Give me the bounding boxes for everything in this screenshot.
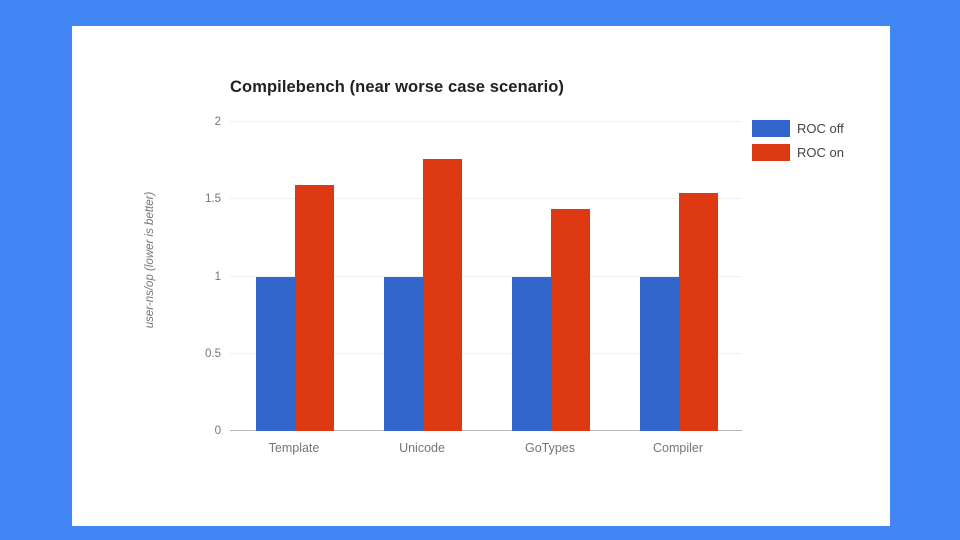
x-tick-label: Template <box>230 441 358 455</box>
y-tick-label: 2 <box>215 116 221 128</box>
legend-item[interactable]: ROC off <box>752 116 844 140</box>
chart-title: Compilebench (near worse case scenario) <box>230 78 564 97</box>
legend-label: ROC off <box>797 121 844 136</box>
x-tick-label: GoTypes <box>486 441 614 455</box>
legend-label: ROC on <box>797 145 844 160</box>
legend-swatch-icon <box>752 144 790 161</box>
bar[interactable] <box>384 277 423 432</box>
bar[interactable] <box>512 277 551 432</box>
bar[interactable] <box>256 277 295 432</box>
bars-layer: TemplateUnicodeGoTypesCompiler <box>230 122 742 431</box>
bar[interactable] <box>295 185 334 431</box>
slide-card: Compilebench (near worse case scenario) … <box>72 26 890 526</box>
y-axis-title: user-ns/op (lower is better) <box>144 140 156 380</box>
bar-chart[interactable]: Compilebench (near worse case scenario) … <box>72 26 890 526</box>
plot-area: 21.510.50 TemplateUnicodeGoTypesCompiler <box>230 122 742 431</box>
legend-item[interactable]: ROC on <box>752 140 844 164</box>
slide-canvas: Compilebench (near worse case scenario) … <box>0 0 960 540</box>
bar[interactable] <box>679 193 718 431</box>
bar-group: Unicode <box>358 122 486 431</box>
chart-legend[interactable]: ROC offROC on <box>752 116 844 164</box>
y-tick-label: 1.5 <box>205 193 221 205</box>
bar-group: Template <box>230 122 358 431</box>
legend-swatch-icon <box>752 120 790 137</box>
x-tick-label: Unicode <box>358 441 486 455</box>
y-tick-label: 0.5 <box>205 348 221 360</box>
bar-group: Compiler <box>614 122 742 431</box>
bar[interactable] <box>640 277 679 432</box>
bar[interactable] <box>551 209 590 431</box>
x-tick-label: Compiler <box>614 441 742 455</box>
bar-group: GoTypes <box>486 122 614 431</box>
y-tick-label: 0 <box>215 425 221 437</box>
bar[interactable] <box>423 159 462 431</box>
y-tick-label: 1 <box>215 271 221 283</box>
